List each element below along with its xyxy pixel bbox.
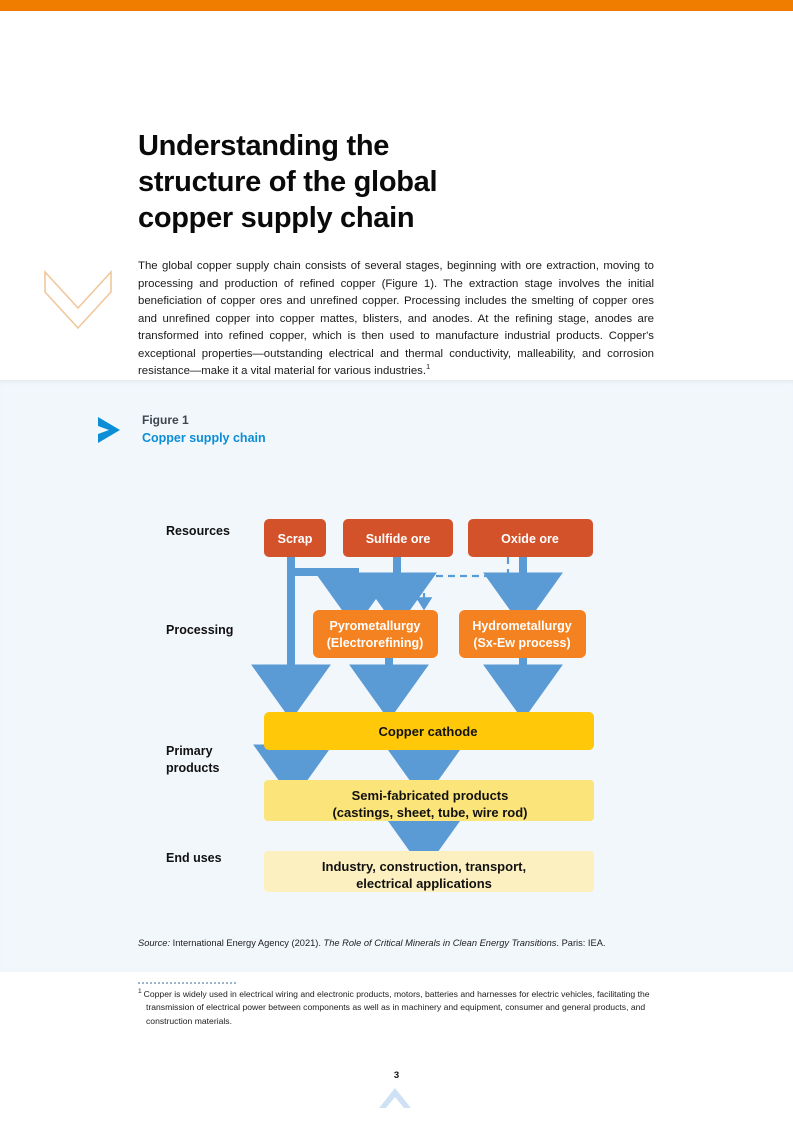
node-scrap-label: Scrap [278,532,313,546]
node-semifabricated-label-line2: (castings, sheet, tube, wire rod) [332,805,527,820]
source-text-before-title: International Energy Agency (2021). [170,938,324,948]
intro-section: Understanding the structure of the globa… [0,11,793,380]
top-accent-bar [0,0,793,11]
figure-section: Figure 1 Copper supply chain [0,380,793,972]
figure-header: Figure 1 Copper supply chain [96,414,266,445]
page-title-line-1: Understanding the [138,128,558,164]
node-hydrometallurgy: Hydrometallurgy (Sx-Ew process) [459,610,586,658]
node-end-uses-label-line1: Industry, construction, transport, [322,859,526,874]
chevron-right-icon [96,416,122,444]
page-title-line-2: structure of the global [138,164,558,200]
node-copper-cathode: Copper cathode [264,712,594,750]
node-sulfide-ore-label: Sulfide ore [366,532,431,546]
figure-source: Source: International Energy Agency (202… [138,938,678,948]
intro-footnote-marker: 1 [426,363,430,372]
arrow-scrap-to-pyrometallurgy [291,572,355,606]
node-pyrometallurgy: Pyrometallurgy (Electrorefining) [313,610,438,658]
footnote-separator [138,982,236,986]
stage-label-primary-products-line1: Primary [166,744,213,758]
decorative-chevron-down-icon [43,270,113,335]
node-oxide-ore-label: Oxide ore [501,532,559,546]
footnote: 1Copper is widely used in electrical wir… [138,988,656,1028]
intro-paragraph-text: The global copper supply chain consists … [138,260,654,377]
node-end-uses-label-line2: electrical applications [356,876,492,891]
source-text-after-title: . Paris: IEA. [556,938,605,948]
figure-title: Copper supply chain [142,432,266,445]
node-hydrometallurgy-label-line2: (Sx-Ew process) [473,636,570,650]
page-title: Understanding the structure of the globa… [138,128,558,236]
footnote-text: Copper is widely used in electrical wiri… [144,989,650,1026]
page-title-line-3: copper supply chain [138,200,558,236]
node-pyrometallurgy-label-line2: (Electrorefining) [327,636,424,650]
page-number: 3 [0,1070,793,1081]
intro-paragraph: The global copper supply chain consists … [138,258,654,381]
stage-label-end-uses: End uses [166,851,222,865]
arrow-oxide-ore-to-pyrometallurgy-dashed [424,557,508,606]
source-prefix: Source: [138,938,170,948]
node-semifabricated-products: Semi-fabricated products (castings, shee… [264,780,594,821]
stage-label-primary-products-line2: products [166,761,220,775]
figure-number: Figure 1 [142,414,266,426]
node-sulfide-ore: Sulfide ore [343,519,453,557]
stage-label-resources: Resources [166,524,230,538]
footnote-marker: 1 [138,988,142,995]
figure-header-labels: Figure 1 Copper supply chain [142,414,266,445]
node-scrap: Scrap [264,519,326,557]
stage-label-processing: Processing [166,623,233,637]
chevron-up-icon[interactable] [378,1085,412,1111]
node-copper-cathode-label: Copper cathode [379,724,478,739]
footnote-body: 1Copper is widely used in electrical wir… [138,988,656,1028]
node-hydrometallurgy-label-line1: Hydrometallurgy [472,619,571,633]
node-semifabricated-label-line1: Semi-fabricated products [352,788,509,803]
node-pyrometallurgy-label-line1: Pyrometallurgy [329,619,420,633]
copper-supply-chain-diagram: Resources Processing Primary products En… [0,510,793,900]
source-publication-title: The Role of Critical Minerals in Clean E… [324,938,557,948]
node-end-uses: Industry, construction, transport, elect… [264,851,594,892]
node-oxide-ore: Oxide ore [468,519,593,557]
